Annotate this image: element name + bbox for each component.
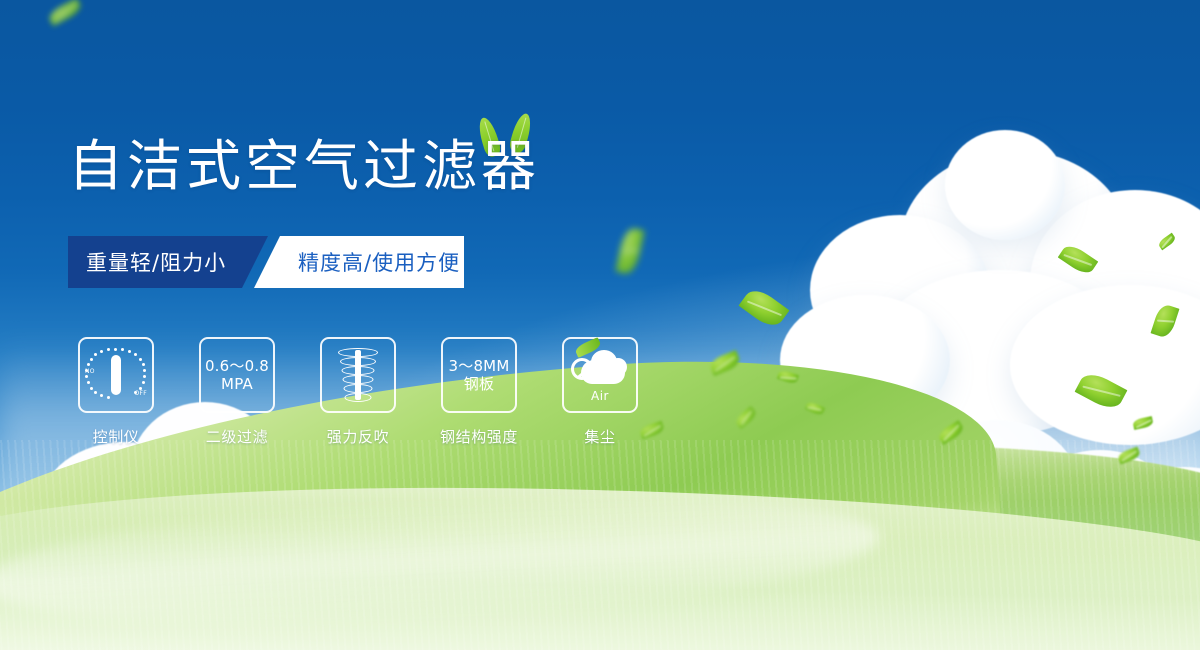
steel-value-line2: 钢板 [464, 375, 494, 393]
feature-label: 控制仪 [93, 426, 140, 447]
feature-list: NO OFF [78, 337, 638, 447]
feature-label: 强力反吹 [327, 426, 389, 447]
feature-icon-box [320, 337, 396, 413]
steel-value-line1: 3～8MM [449, 357, 510, 375]
pressure-value-line1: 0.6～0.8 [205, 357, 269, 375]
feature-item-controller[interactable]: NO OFF [78, 337, 154, 447]
subtitle-left-panel: 重量轻/阻力小 [68, 236, 268, 288]
gauge-icon: NO OFF [86, 346, 146, 404]
subtitle-bar: 重量轻/阻力小 精度高/使用方便 [68, 236, 464, 288]
feature-label: 集尘 [584, 426, 615, 447]
page-title: 自洁式空气过滤器 [68, 138, 540, 196]
feature-item-steel[interactable]: 3～8MM 钢板 钢结构强度 [441, 337, 517, 447]
feature-item-dust[interactable]: Air 集尘 [562, 337, 638, 447]
product-banner: 自洁式空气过滤器 重量轻/阻力小 精度高/使用方便 NO OFF [0, 0, 1200, 650]
subtitle-right-panel: 精度高/使用方便 [254, 236, 464, 288]
feature-icon-box: 3～8MM 钢板 [441, 337, 517, 413]
feature-label: 钢结构强度 [440, 426, 518, 447]
gauge-needle [111, 355, 121, 395]
subtitle-right-text: 精度高/使用方便 [298, 247, 460, 277]
pressure-value-line2: MPA [221, 375, 253, 393]
cloud-air-icon [571, 348, 629, 388]
air-label: Air [591, 389, 609, 403]
feature-item-backblow[interactable]: 强力反吹 [320, 337, 396, 447]
feature-icon-box: Air [562, 337, 638, 413]
coil-core [355, 350, 361, 400]
feature-icon-box: 0.6～0.8 MPA [199, 337, 275, 413]
coil-icon [335, 346, 381, 404]
subtitle-left-text: 重量轻/阻力小 [86, 247, 226, 277]
feature-icon-box: NO OFF [78, 337, 154, 413]
feature-item-pressure[interactable]: 0.6～0.8 MPA 二级过滤 [199, 337, 275, 447]
feature-label: 二级过滤 [206, 426, 268, 447]
